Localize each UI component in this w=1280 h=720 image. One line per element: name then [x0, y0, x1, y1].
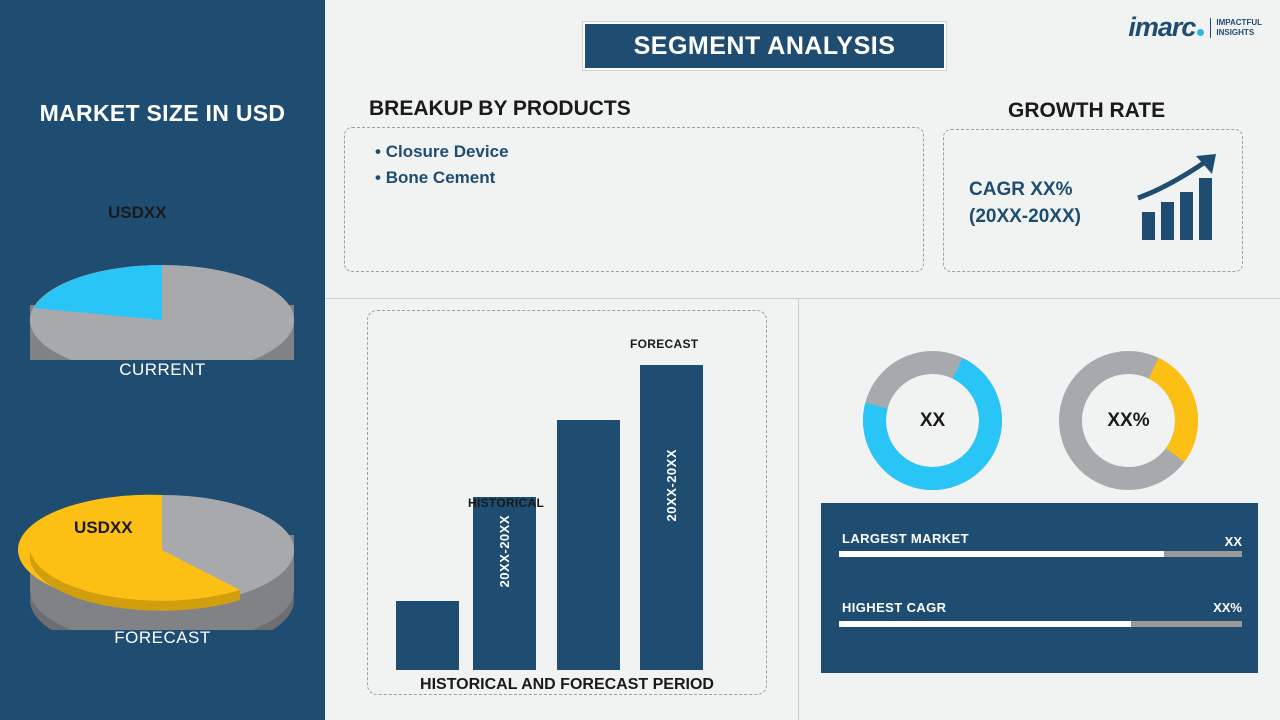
- donut-chart-2: XX%: [1056, 348, 1201, 493]
- logo-tagline-line2: INSIGHTS: [1216, 28, 1254, 37]
- bar-3: [557, 420, 620, 670]
- bar-2: 20XX-20XX: [473, 497, 536, 670]
- products-box: • Closure Device • Bone Cement: [344, 127, 924, 272]
- highest-cagr-track: [839, 621, 1242, 627]
- bar-1: [396, 601, 459, 670]
- donut-1-value: XX: [860, 348, 1005, 493]
- logo-wordmark: imarc: [1128, 12, 1195, 43]
- horizontal-divider: [325, 298, 1280, 299]
- largest-market-track: [839, 551, 1242, 557]
- list-item: • Bone Cement: [375, 168, 509, 188]
- cagr-line-2: (20XX-20XX): [969, 203, 1081, 230]
- bar-4: 20XX-20XX: [640, 365, 703, 670]
- product-item-label: Bone Cement: [386, 168, 496, 187]
- pie-forecast-label: FORECAST: [0, 628, 325, 648]
- bar-chart-axis-title: HISTORICAL AND FORECAST PERIOD: [367, 676, 767, 694]
- growth-arrow-bars-icon: [1134, 150, 1234, 250]
- cagr-text: CAGR XX% (20XX-20XX): [969, 176, 1081, 230]
- highest-cagr-label: HIGHEST CAGR: [842, 600, 946, 615]
- pie-chart-current: USDXX: [0, 160, 325, 365]
- cagr-line-1: CAGR XX%: [969, 176, 1081, 203]
- products-list: • Closure Device • Bone Cement: [375, 142, 509, 194]
- logo-tagline-line1: IMPACTFUL: [1216, 18, 1262, 27]
- logo-dot-icon: [1197, 29, 1204, 36]
- pie-current-value: USDXX: [108, 203, 167, 223]
- largest-market-fill: [839, 551, 1164, 557]
- pie-forecast-svg: [0, 430, 325, 630]
- vertical-divider: [798, 298, 799, 720]
- forecast-label: FORECAST: [630, 337, 698, 351]
- bar-4-label: 20XX-20XX: [664, 449, 679, 521]
- market-metrics-card: LARGEST MARKET XX HIGHEST CAGR XX%: [821, 503, 1258, 673]
- segment-analysis-banner: SEGMENT ANALYSIS: [583, 22, 946, 70]
- market-size-panel: MARKET SIZE IN USD USDXX CURRENT U: [0, 0, 325, 720]
- donut-chart-1: XX: [860, 348, 1005, 493]
- market-size-title: MARKET SIZE IN USD: [0, 100, 325, 127]
- logo-tagline: IMPACTFUL INSIGHTS: [1210, 18, 1262, 38]
- growth-rate-heading: GROWTH RATE: [1008, 99, 1165, 123]
- pie-current-label: CURRENT: [0, 360, 325, 380]
- pie-chart-forecast: USDXX: [0, 430, 325, 635]
- breakup-by-products-heading: BREAKUP BY PRODUCTS: [369, 97, 631, 121]
- imarc-logo: imarc IMPACTFUL INSIGHTS: [1128, 12, 1262, 43]
- growth-rate-box: CAGR XX% (20XX-20XX): [943, 129, 1243, 272]
- product-item-label: Closure Device: [386, 142, 509, 161]
- highest-cagr-value: XX%: [1213, 600, 1242, 615]
- list-item: • Closure Device: [375, 142, 509, 162]
- pie-forecast-value: USDXX: [74, 518, 133, 538]
- bar-2-label: 20XX-20XX: [497, 515, 512, 587]
- historical-forecast-chart: 20XX-20XX HISTORICAL 20XX-20XX FORECAST: [367, 310, 767, 695]
- largest-market-label: LARGEST MARKET: [842, 531, 969, 546]
- pie-current-svg: [0, 160, 325, 360]
- donut-2-value: XX%: [1056, 348, 1201, 493]
- historical-label: HISTORICAL: [468, 496, 544, 510]
- highest-cagr-fill: [839, 621, 1131, 627]
- segment-analysis-panel: imarc IMPACTFUL INSIGHTS SEGMENT ANALYSI…: [325, 0, 1280, 720]
- banner-title: SEGMENT ANALYSIS: [634, 32, 896, 61]
- largest-market-value: XX: [1225, 534, 1242, 549]
